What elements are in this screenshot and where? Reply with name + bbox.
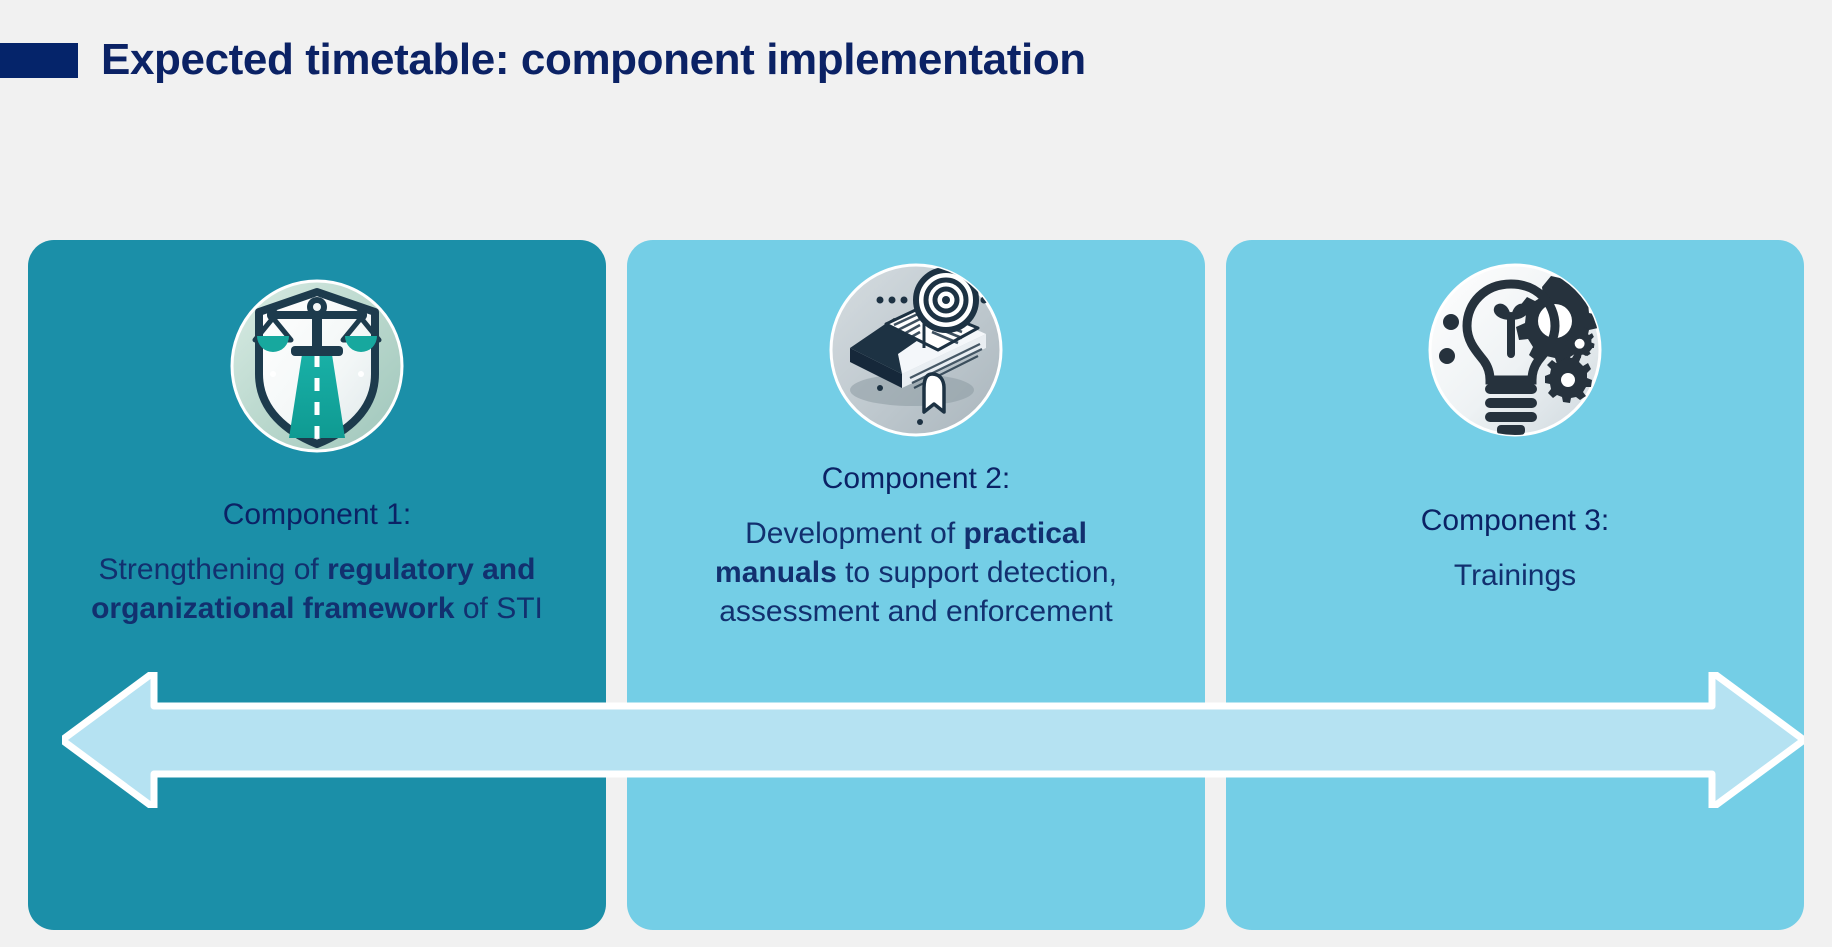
card-body: Strengthening of regulatory and organiza…: [82, 550, 552, 628]
slide-title-row: Expected timetable: component implementa…: [0, 20, 1086, 100]
card-heading: Component 2:: [822, 460, 1010, 498]
card-component-3[interactable]: Component 3: Trainings: [1226, 240, 1804, 930]
card-body-part: Trainings: [1454, 559, 1576, 592]
card-heading: Component 1:: [223, 496, 411, 534]
card-body-part: of STI: [455, 592, 543, 625]
slide-canvas: Expected timetable: component implementa…: [0, 0, 1832, 947]
card-component-1[interactable]: Component 1: Strengthening of regulatory…: [28, 240, 606, 930]
card-body: Development of practical manuals to supp…: [681, 514, 1151, 631]
card-body-part: Development of: [745, 517, 963, 550]
shield-scales-road-icon: [229, 278, 405, 454]
components-row: Component 1: Strengthening of regulatory…: [28, 240, 1804, 930]
card-body-part: Strengthening of: [99, 553, 328, 586]
card-body: Trainings: [1454, 556, 1576, 595]
card-component-2[interactable]: Component 2: Development of practical ma…: [627, 240, 1205, 930]
book-target-icon: [828, 262, 1004, 438]
title-marker-square: [0, 43, 78, 78]
lightbulb-gear-icon: [1427, 262, 1603, 438]
page-title: Expected timetable: component implementa…: [101, 38, 1086, 82]
card-heading: Component 3:: [1421, 502, 1609, 540]
